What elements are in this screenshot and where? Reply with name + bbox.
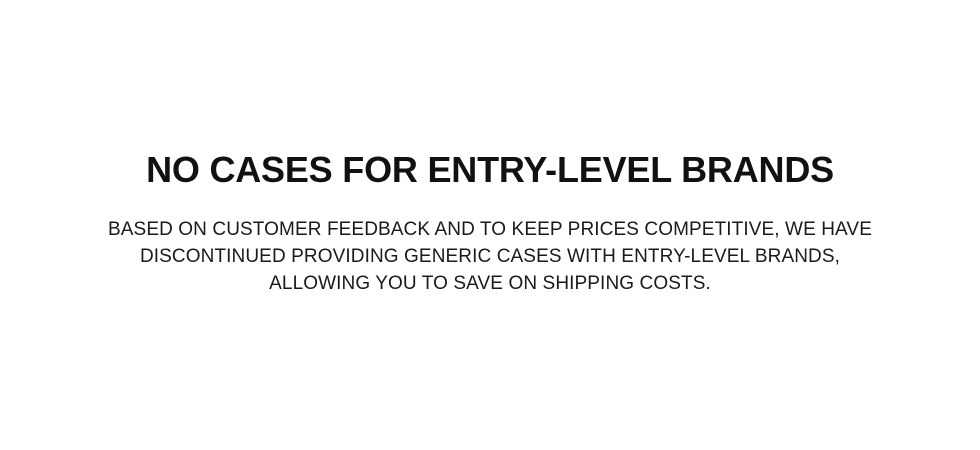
banner-heading: NO CASES FOR ENTRY-LEVEL BRANDS	[146, 148, 834, 192]
promo-banner: NO CASES FOR ENTRY-LEVEL BRANDS BASED ON…	[0, 0, 980, 450]
banner-body-text: BASED ON CUSTOMER FEEDBACK AND TO KEEP P…	[90, 216, 890, 297]
